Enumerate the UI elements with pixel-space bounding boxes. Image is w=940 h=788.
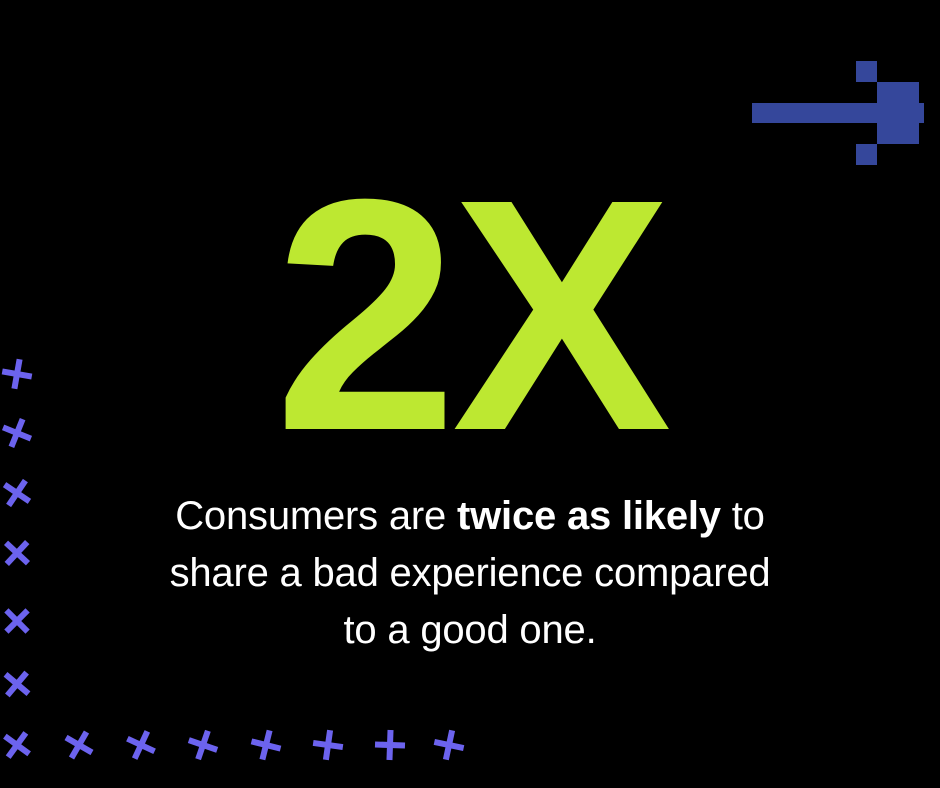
- cross-bar-vertical: [386, 730, 393, 760]
- cross-bar-vertical: [6, 479, 28, 507]
- body-copy: Consumers are twice as likely to share a…: [70, 488, 870, 659]
- body-copy-line-2: share a bad experience compared: [70, 545, 870, 602]
- cross-mark-bottom-4: [181, 723, 224, 766]
- cross-mark-bottom-6: [309, 726, 347, 764]
- cross-mark-left-5: [0, 597, 41, 645]
- arrow-head-block-upper-1: [856, 61, 877, 82]
- body-copy-line-1-tail: to: [721, 494, 765, 538]
- arrow-head-block-tip-lower: [898, 123, 919, 144]
- cross-mark-left-4: [0, 529, 41, 577]
- cross-mark-bottom-8: [429, 725, 469, 765]
- cross-mark-bottom-1: [0, 721, 41, 768]
- cross-mark-bottom-5: [245, 724, 286, 765]
- cross-mark-bottom-2: [56, 722, 102, 768]
- arrow-head-block-lower-2: [877, 123, 898, 144]
- stat-card: 2X Consumers are twice as likely to shar…: [0, 0, 940, 788]
- cross-mark-bottom-7: [372, 727, 407, 762]
- body-copy-line-1: Consumers are twice as likely to: [70, 488, 870, 545]
- arrow-head-block-upper-2: [877, 82, 898, 103]
- body-copy-line-3: to a good one.: [70, 602, 870, 659]
- body-copy-emphasis: twice as likely: [457, 494, 721, 538]
- headline-statistic: 2X: [0, 150, 940, 480]
- cross-mark-bottom-3: [118, 722, 163, 767]
- body-copy-line-1-lead: Consumers are: [175, 494, 457, 538]
- arrow-head-block-tip-upper: [898, 82, 919, 103]
- cross-mark-left-6: [0, 660, 41, 708]
- arrow-head-block-tip: [898, 103, 919, 123]
